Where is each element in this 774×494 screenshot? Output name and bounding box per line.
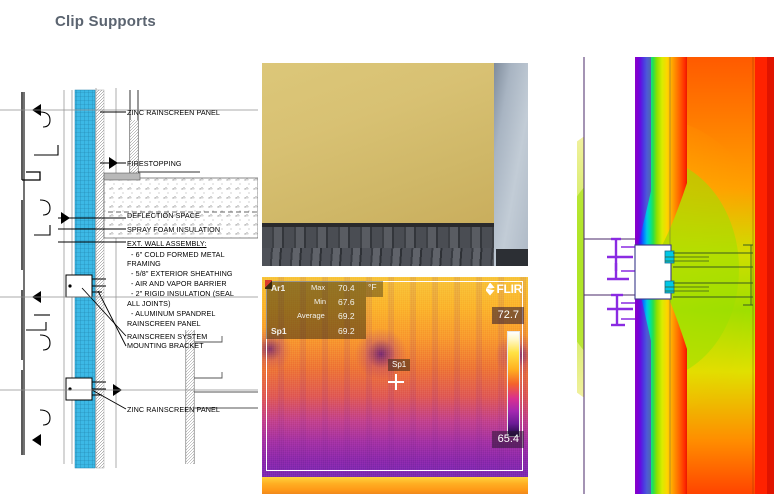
callout-zinc-rainscreen-panel-top: ZINC RAINSCREEN PANEL [127, 108, 220, 117]
photo-baseboard [262, 227, 498, 249]
flir-logo: FLIR [486, 282, 522, 296]
thermal-value-max: 70.4 [338, 283, 355, 293]
callout-rainscreen-mounting-bracket: RAINSCREEN SYSTEM MOUNTING BRACKET [127, 332, 207, 351]
callout-spray-foam-insulation: SPRAY FOAM INSULATION [127, 225, 220, 234]
assembly-item-1: FRAMING [127, 259, 161, 268]
thermal-unit-label: °F [368, 282, 377, 292]
assembly-item-4: - 2" RIGID INSULATION (SEAL [131, 289, 234, 298]
assembly-item-3: - AIR AND VAPOR BARRIER [131, 279, 227, 288]
thermal-spot-value: 69.2 [338, 326, 355, 336]
assembly-item-0: - 6" COLD FORMED METAL [131, 250, 225, 259]
assembly-item-7: RAINSCREEN PANEL [127, 319, 201, 328]
assembly-item-5: ALL JOINTS) [127, 299, 171, 308]
thermal-spot-tag: Sp1 [388, 359, 410, 371]
zinc-panel-profile [22, 92, 40, 455]
panel-hooks [40, 112, 50, 425]
thermal-value-average: 69.2 [338, 311, 355, 321]
thermal-color-scale-bar [507, 331, 520, 437]
crosshair-icon [388, 374, 404, 390]
callout-zinc-rainscreen-panel-bottom: ZINC RAINSCREEN PANEL [127, 405, 220, 414]
flir-diamond-icon [486, 283, 495, 296]
assembly-item-6: - ALUMINUM SPANDREL [131, 309, 215, 318]
interior-corner-photograph [262, 63, 528, 266]
photo-wood-floor [262, 248, 500, 266]
photo-floor-corner [496, 249, 528, 266]
wall-section-detail-drawing: ZINC RAINSCREEN PANEL FIRESTOPPING DEFLE… [0, 60, 258, 494]
assembly-item-2: - 5/8" EXTERIOR SHEATHING [131, 269, 233, 278]
callout-deflection-space: DEFLECTION SPACE [127, 211, 200, 220]
page-title: Clip Supports [55, 13, 156, 30]
callout-ext-wall-assembly: EXT. WALL ASSEMBLY: [127, 239, 207, 248]
thermal-value-min: 67.6 [338, 297, 355, 307]
thermal-key-max: Max [311, 283, 325, 292]
flir-thermal-image: Ar1 Max 70.4 Min 67.6 Average 69.2 Sp1 6… [262, 277, 528, 494]
photo-yellow-wall [262, 63, 502, 227]
simulation-svg [577, 57, 774, 494]
thermal-spot-label: Sp1 [271, 326, 287, 336]
thermal-scale-high: 72.7 [492, 307, 524, 324]
thermal-scale-low: 65.4 [492, 431, 524, 448]
thermal-floor-band [262, 477, 528, 494]
page-root: Clip Supports [0, 0, 774, 494]
photo-grey-wall [494, 63, 528, 266]
thermal-simulation-rainbow [577, 57, 774, 494]
thermal-key-min: Min [314, 297, 326, 306]
thermal-key-average: Average [297, 311, 325, 320]
callout-firestopping: FIRESTOPPING [127, 159, 182, 168]
flir-wordmark: FLIR [497, 282, 522, 296]
thermal-area-label: Ar1 [271, 283, 285, 293]
